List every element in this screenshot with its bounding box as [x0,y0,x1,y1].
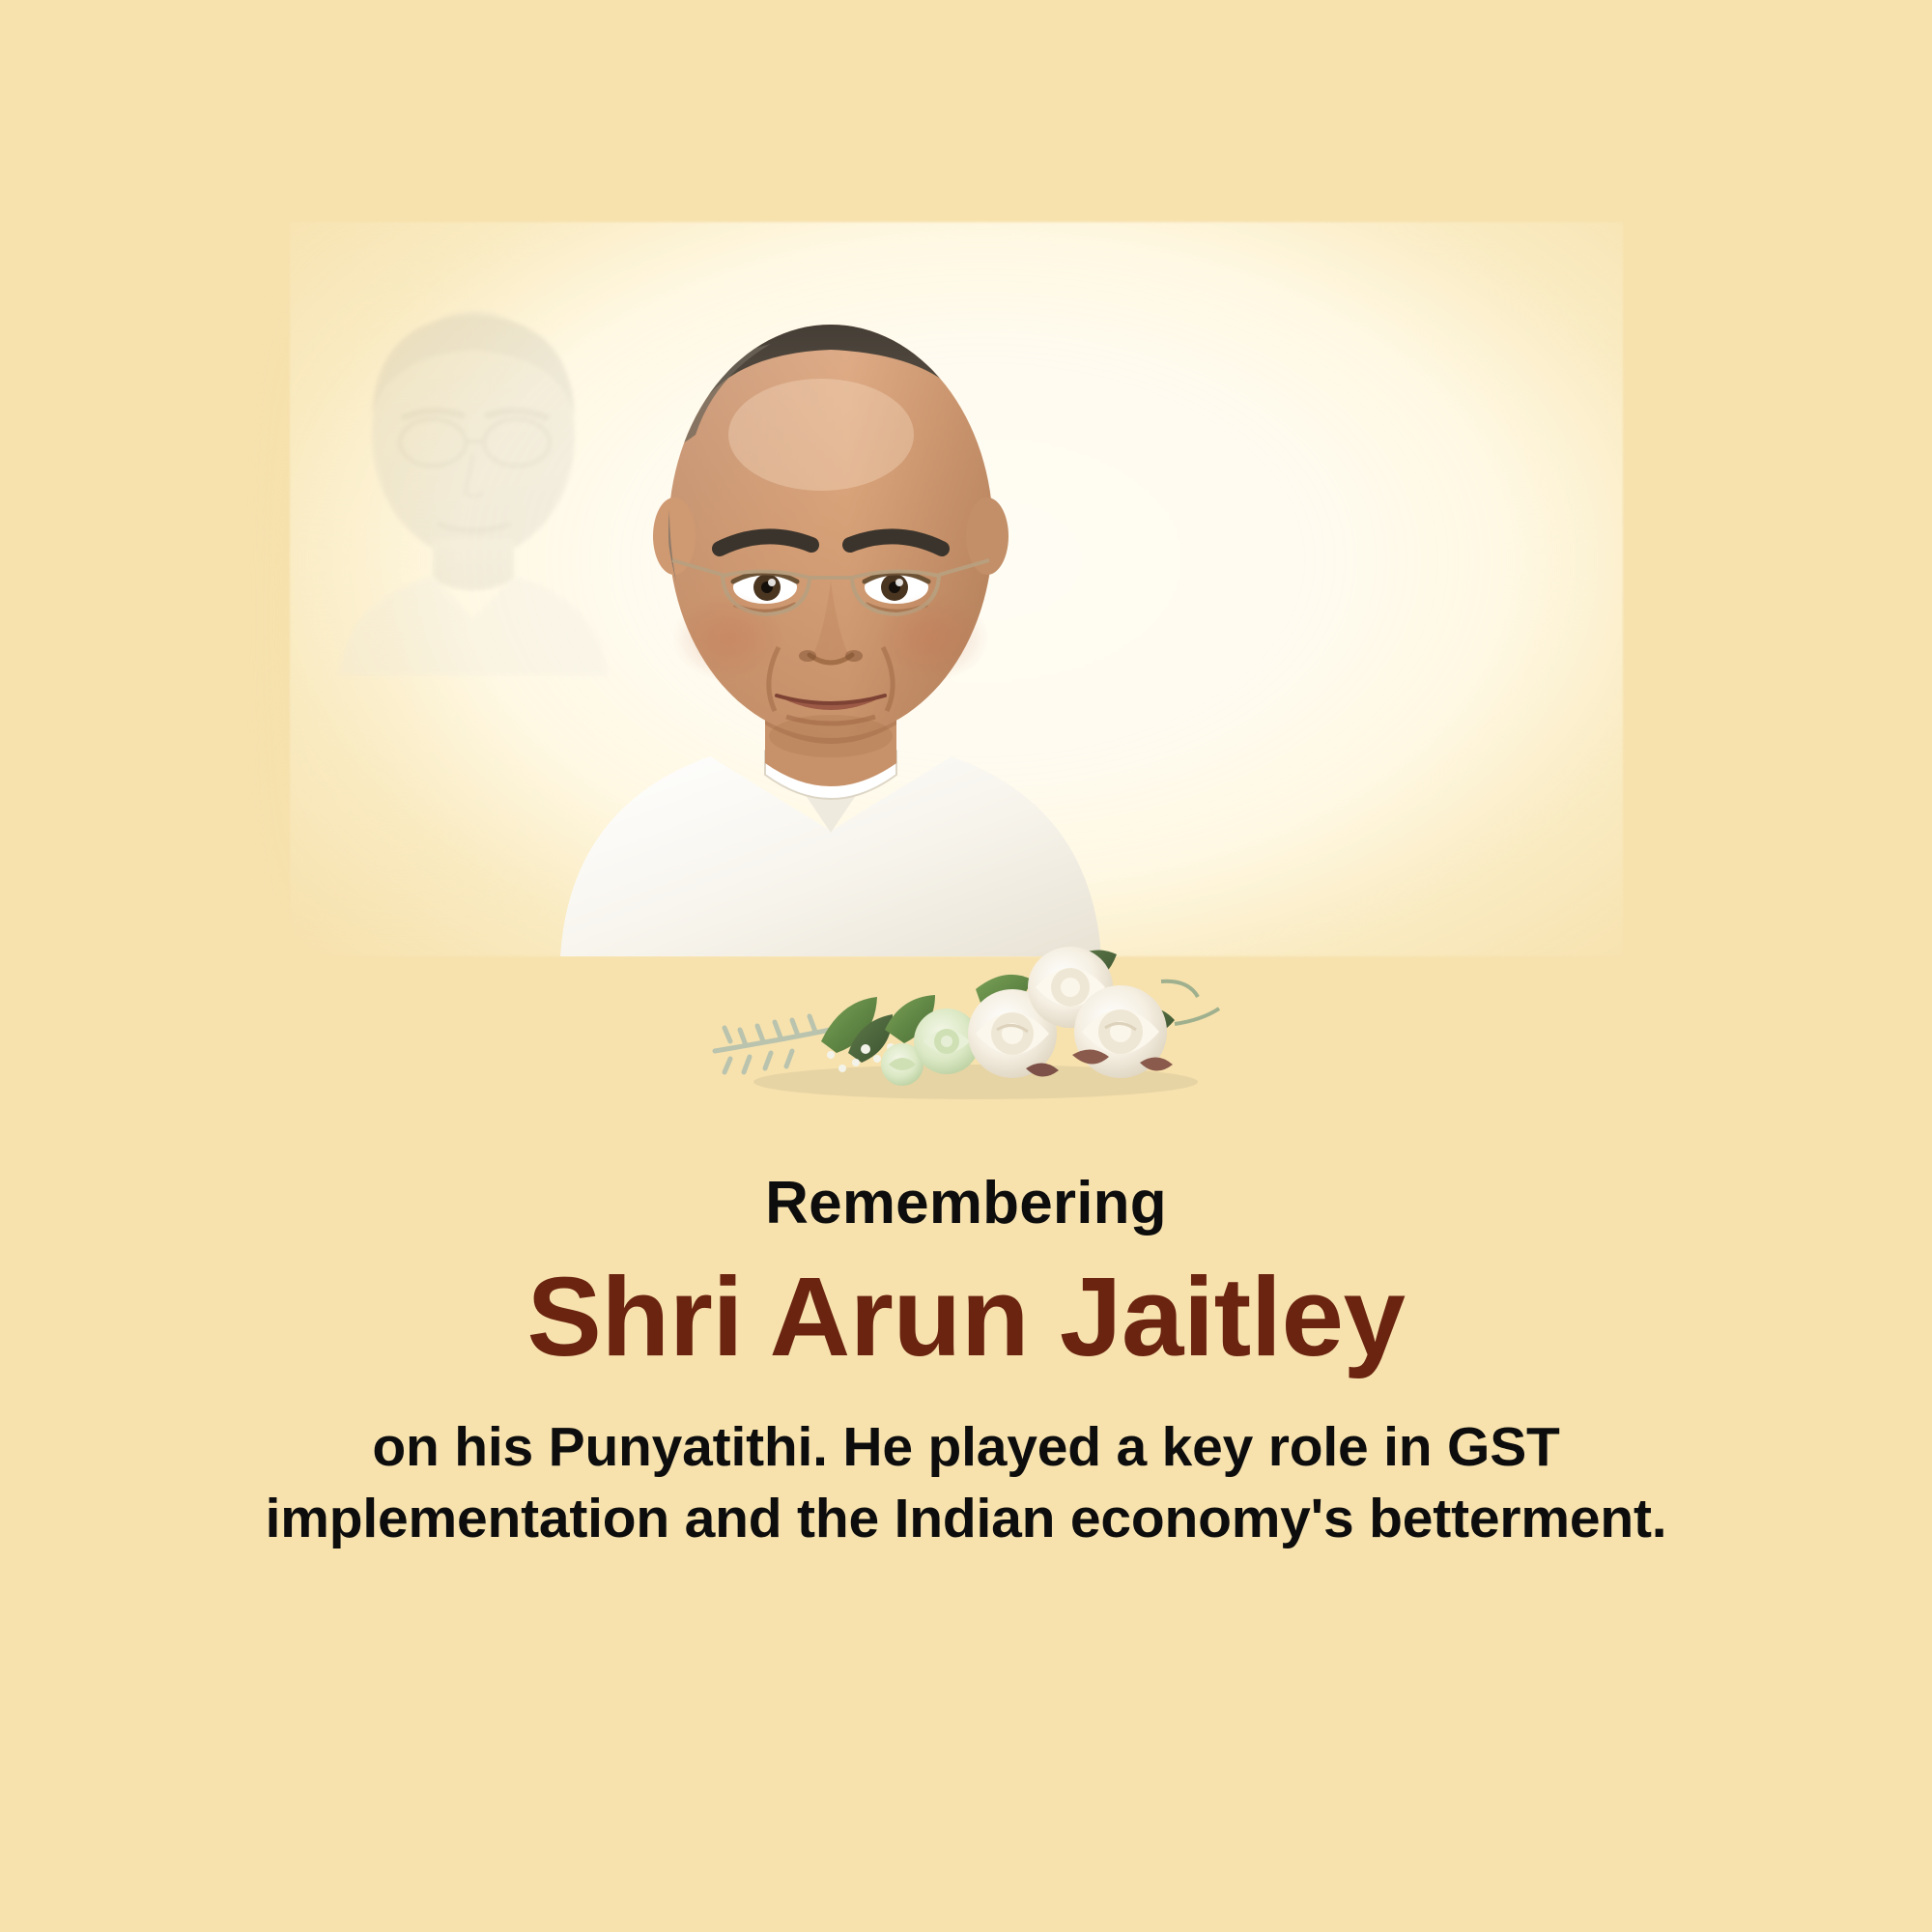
caption-body-line-2: implementation and the Indian economy's … [116,1483,1816,1554]
caption-block: Remembering Shri Arun Jaitley on his Pun… [0,1174,1932,1554]
portrait-arun-jaitley [541,241,1121,956]
caption-remembering: Remembering [0,1174,1932,1234]
memorial-bouquet [686,927,1227,1111]
caption-name: Shri Arun Jaitley [0,1261,1932,1373]
caption-body-line-1: on his Punyatithi. He played a key role … [116,1411,1816,1483]
memorial-poster: Remembering Shri Arun Jaitley on his Pun… [0,0,1932,1932]
